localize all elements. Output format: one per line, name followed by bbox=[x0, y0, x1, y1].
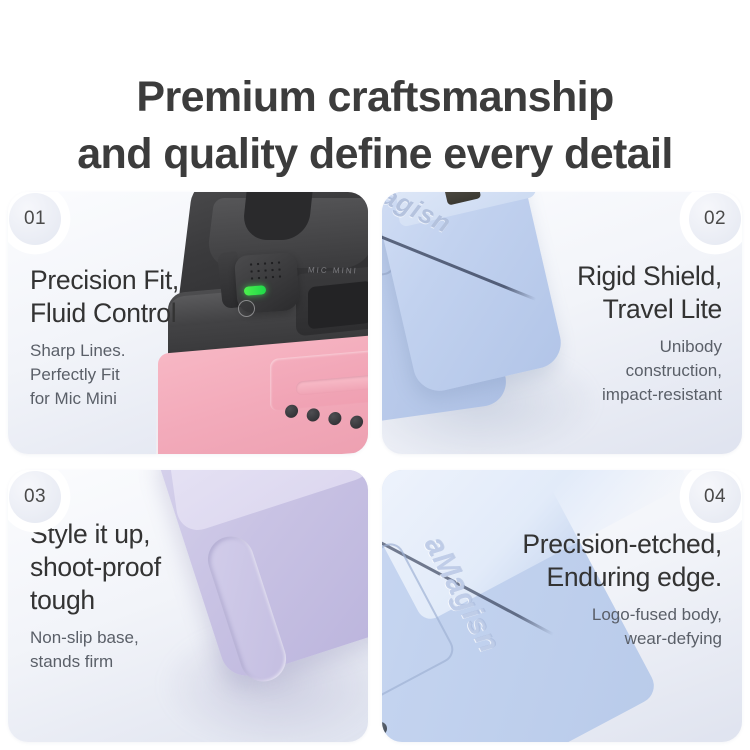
card-copy-02: Rigid Shield, Travel Lite Unibody constr… bbox=[522, 260, 722, 407]
card-copy-04: Precision-etched, Enduring edge. Logo-fu… bbox=[492, 528, 722, 651]
card-subtitle-03: Non-slip base, stands firm bbox=[30, 626, 242, 674]
badge-number-label: 04 bbox=[689, 471, 741, 523]
badge-number-label: 02 bbox=[689, 193, 741, 245]
card-copy-01: Precision Fit, Fluid Control Sharp Lines… bbox=[30, 264, 242, 411]
card-title-04: Precision-etched, Enduring edge. bbox=[492, 528, 722, 594]
feature-card-grid: MIC MINI 01 Precision Fit, Fluid Control… bbox=[8, 192, 742, 742]
promo-page: Premium craftsmanship and quality define… bbox=[0, 0, 750, 750]
feature-card-04[interactable]: aMagisn 04 Precision-etched, Enduring ed… bbox=[382, 470, 742, 742]
card-title-02: Rigid Shield, Travel Lite bbox=[522, 260, 722, 326]
card-subtitle-02: Unibody construction, impact-resistant bbox=[522, 335, 722, 407]
feature-card-01[interactable]: MIC MINI 01 Precision Fit, Fluid Control… bbox=[8, 192, 368, 454]
product-brand-mark: MIC MINI bbox=[308, 266, 359, 276]
card-copy-03: Style it up, shoot-proof tough Non-slip … bbox=[30, 518, 242, 674]
feature-card-03[interactable]: 03 Style it up, shoot-proof tough Non-sl… bbox=[8, 470, 368, 742]
card-title-03: Style it up, shoot-proof tough bbox=[30, 518, 242, 617]
page-title-line-1: Premium craftsmanship bbox=[136, 73, 613, 121]
card-subtitle-04: Logo-fused body, wear-defying bbox=[492, 603, 722, 651]
card-number-badge-04: 04 bbox=[684, 470, 742, 528]
card-title-01: Precision Fit, Fluid Control bbox=[30, 264, 242, 330]
card-subtitle-01: Sharp Lines. Perfectly Fit for Mic Mini bbox=[30, 339, 242, 411]
card-number-badge-01: 01 bbox=[8, 192, 66, 250]
badge-number-label: 03 bbox=[9, 471, 61, 523]
feature-card-02[interactable]: aMagisn 02 Rigid Shield, Travel Lite Uni… bbox=[382, 192, 742, 454]
page-title-line-2: and quality define every detail bbox=[0, 126, 750, 183]
led-indicator-icon bbox=[244, 285, 267, 296]
card-number-badge-02: 02 bbox=[684, 192, 742, 250]
page-title: Premium craftsmanship and quality define… bbox=[0, 69, 750, 183]
card-number-badge-03: 03 bbox=[8, 470, 66, 528]
badge-number-label: 01 bbox=[9, 193, 61, 245]
